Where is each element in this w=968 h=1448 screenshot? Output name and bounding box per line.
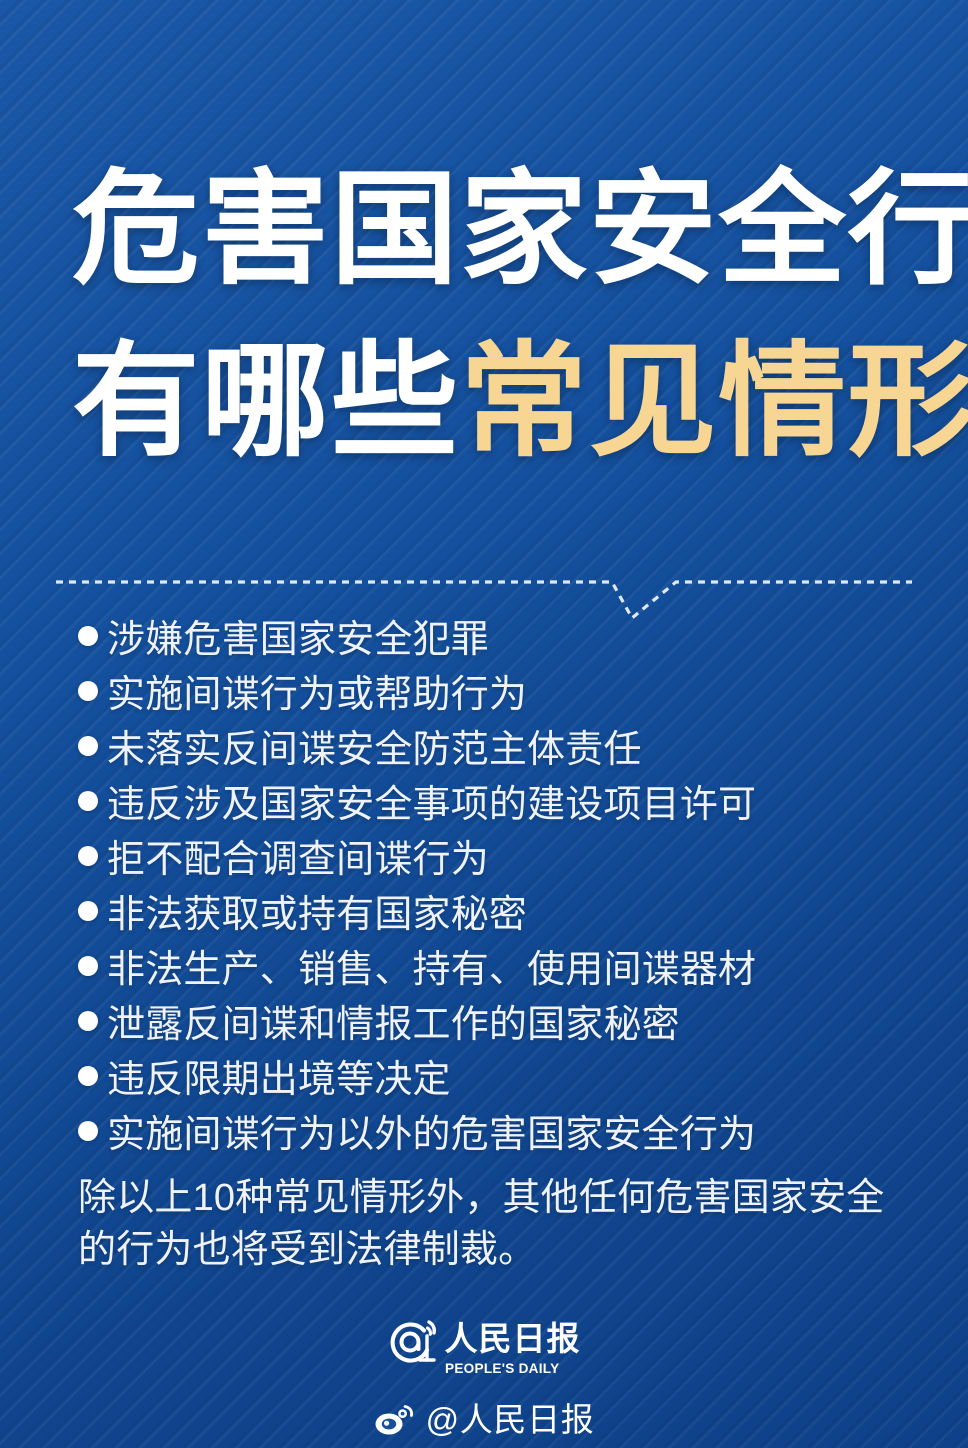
divider-dashed-line-icon	[0, 556, 968, 626]
list-item: 实施间谍行为以外的危害国家安全行为	[78, 1113, 938, 1162]
footer: 人民日报 PEOPLE'S DAILY @人民日报	[0, 1316, 968, 1438]
list-item: 泄露反间谍和情报工作的国家秘密	[78, 1003, 938, 1052]
headline-line-1: 危害国家安全行为	[72, 168, 968, 292]
bullet-icon	[78, 681, 98, 701]
poster-root: 危害国家安全行为 有哪些常见情形 涉嫌危害国家安全犯罪 实施间谍行为或帮助行为 …	[0, 0, 968, 1448]
weibo-account-row[interactable]: @人民日报	[374, 1402, 595, 1438]
list-item: 拒不配合调查间谍行为	[78, 838, 938, 887]
list-item-label: 违反限期出境等决定	[107, 1058, 451, 1102]
bullet-icon	[78, 846, 98, 866]
bullet-icon	[78, 1011, 98, 1031]
list-item-label: 涉嫌危害国家安全犯罪	[107, 618, 489, 662]
brand-name-cn: 人民日报	[445, 1322, 581, 1356]
bullet-icon	[78, 626, 98, 646]
list-item: 违反涉及国家安全事项的建设项目许可	[78, 783, 938, 832]
list-item: 未落实反间谍安全防范主体责任	[78, 728, 938, 777]
weibo-icon	[374, 1404, 414, 1436]
list-item-label: 拒不配合调查间谍行为	[107, 838, 489, 882]
headline-line-2-white: 有哪些	[72, 333, 460, 471]
closing-paragraph: 除以上10种常见情形外，其他任何危害国家安全的行为也将受到法律制裁。	[78, 1172, 918, 1276]
brand-name-en: PEOPLE'S DAILY	[445, 1360, 559, 1376]
list-item: 实施间谍行为或帮助行为	[78, 673, 938, 722]
list-item-label: 未落实反间谍安全防范主体责任	[107, 728, 642, 772]
brand-text-block: 人民日报 PEOPLE'S DAILY	[445, 1316, 581, 1376]
list-item-label: 非法获取或持有国家秘密	[107, 893, 527, 937]
list-item-label: 违反涉及国家安全事项的建设项目许可	[107, 783, 756, 827]
at-sign-wifi-icon	[388, 1316, 440, 1370]
list-item-label: 非法生产、销售、持有、使用间谍器材	[107, 948, 756, 992]
list-item: 非法获取或持有国家秘密	[78, 893, 938, 942]
bullet-icon	[78, 736, 98, 756]
weibo-handle-label: @人民日报	[426, 1402, 595, 1438]
headline-line-2-accent: 常见情形	[460, 333, 968, 471]
bullet-icon	[78, 1121, 98, 1141]
list-item-label: 实施间谍行为以外的危害国家安全行为	[107, 1113, 756, 1157]
peoples-daily-logo: 人民日报 PEOPLE'S DAILY	[388, 1316, 581, 1376]
list-item-label: 实施间谍行为或帮助行为	[107, 673, 527, 717]
bullet-icon	[78, 1066, 98, 1086]
list-item: 违反限期出境等决定	[78, 1058, 938, 1107]
bullet-icon	[78, 901, 98, 921]
list-item: 非法生产、销售、持有、使用间谍器材	[78, 948, 938, 997]
bullet-icon	[78, 956, 98, 976]
common-situations-list: 涉嫌危害国家安全犯罪 实施间谍行为或帮助行为 未落实反间谍安全防范主体责任 违反…	[78, 618, 938, 1168]
list-item-label: 泄露反间谍和情报工作的国家秘密	[107, 1003, 680, 1047]
headline-line-2: 有哪些常见情形	[72, 340, 968, 464]
bullet-icon	[78, 791, 98, 811]
divider	[0, 556, 968, 626]
list-item: 涉嫌危害国家安全犯罪	[78, 618, 938, 667]
